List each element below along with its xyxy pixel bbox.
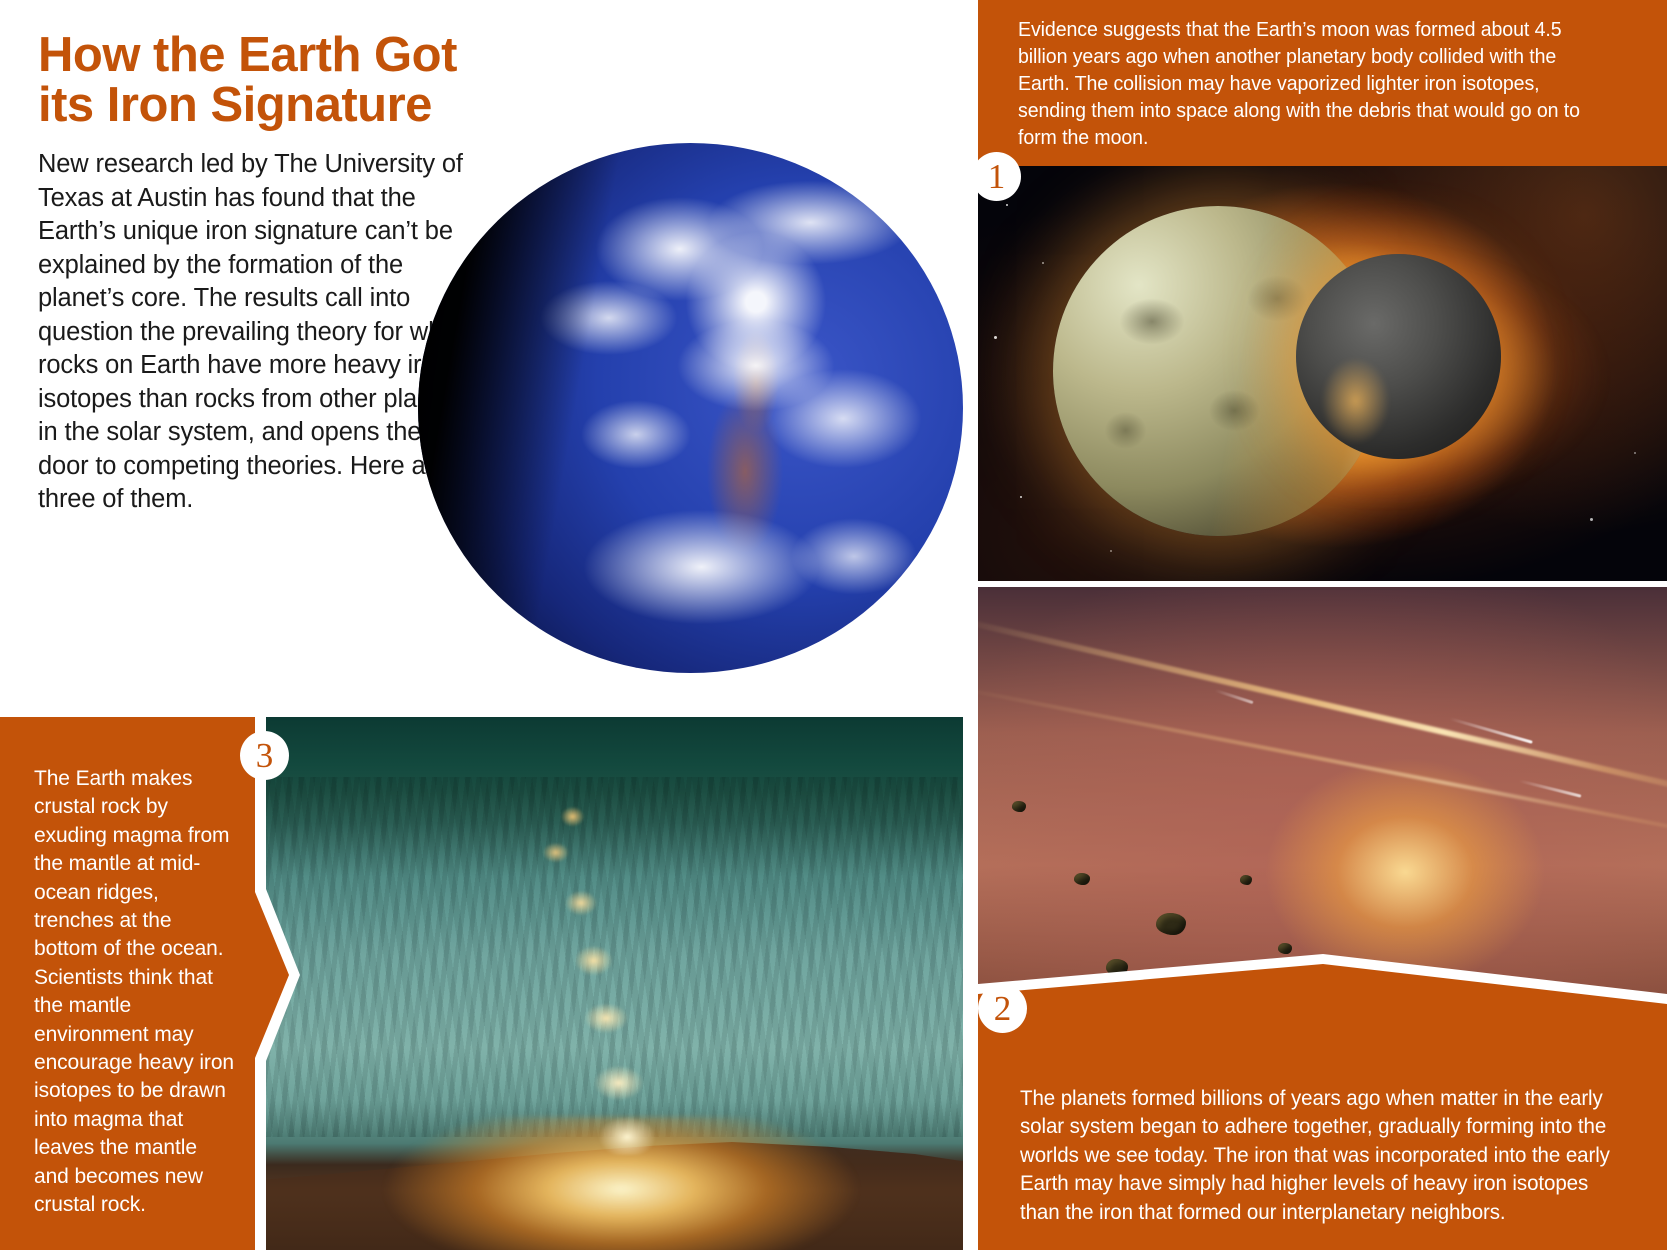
star-icon — [1634, 452, 1636, 454]
panel-3-text: The Earth makes crustal rock by exuding … — [34, 765, 234, 1220]
step-badge-2: 2 — [978, 984, 1027, 1033]
debris-rock — [1240, 875, 1252, 885]
infographic-root: How the Earth Got its Iron Signature New… — [0, 0, 1667, 1250]
gutter-horizontal-right — [978, 581, 1667, 587]
panel-1-image-collision — [978, 166, 1667, 581]
step-badge-1: 1 — [972, 152, 1021, 201]
debris-rock — [1156, 913, 1186, 935]
star-icon — [1042, 262, 1044, 264]
earth-photo — [418, 143, 963, 673]
panel-1: Evidence suggests that the Earth’s moon … — [978, 0, 1667, 581]
panel-2: The planets formed billions of years ago… — [978, 587, 1667, 1250]
panel-2-text: The planets formed billions of years ago… — [1020, 1084, 1610, 1227]
panel-3: The Earth makes crustal rock by exuding … — [0, 717, 963, 1250]
page-title: How the Earth Got its Iron Signature — [38, 30, 468, 130]
star-icon — [1110, 550, 1112, 552]
star-icon — [1590, 518, 1593, 521]
earth-terminator-shadow — [418, 143, 963, 673]
debris-rock — [1278, 943, 1292, 954]
star-icon — [1020, 496, 1022, 498]
intro-block: How the Earth Got its Iron Signature New… — [38, 30, 468, 517]
star-icon — [1006, 204, 1008, 206]
star-icon — [994, 336, 997, 339]
comet-icon — [1215, 689, 1254, 704]
impact-crack-glow — [1308, 341, 1403, 461]
ridge-magma-fissure — [455, 795, 665, 1155]
step-badge-1-label: 1 — [988, 159, 1006, 194]
dust-ring-beam — [978, 684, 1667, 844]
step-badge-2-label: 2 — [994, 991, 1012, 1026]
gutter-horizontal-left — [0, 705, 963, 717]
intro-paragraph: New research led by The University of Te… — [38, 148, 468, 517]
step-badge-3: 3 — [240, 731, 289, 780]
debris-rock — [1012, 801, 1026, 812]
panel-2-chevron-notch — [978, 954, 1667, 1012]
step-badge-3-label: 3 — [256, 738, 274, 773]
debris-rock — [1074, 873, 1090, 885]
panel-1-text: Evidence suggests that the Earth’s moon … — [1018, 16, 1605, 151]
comet-icon — [1519, 779, 1582, 797]
